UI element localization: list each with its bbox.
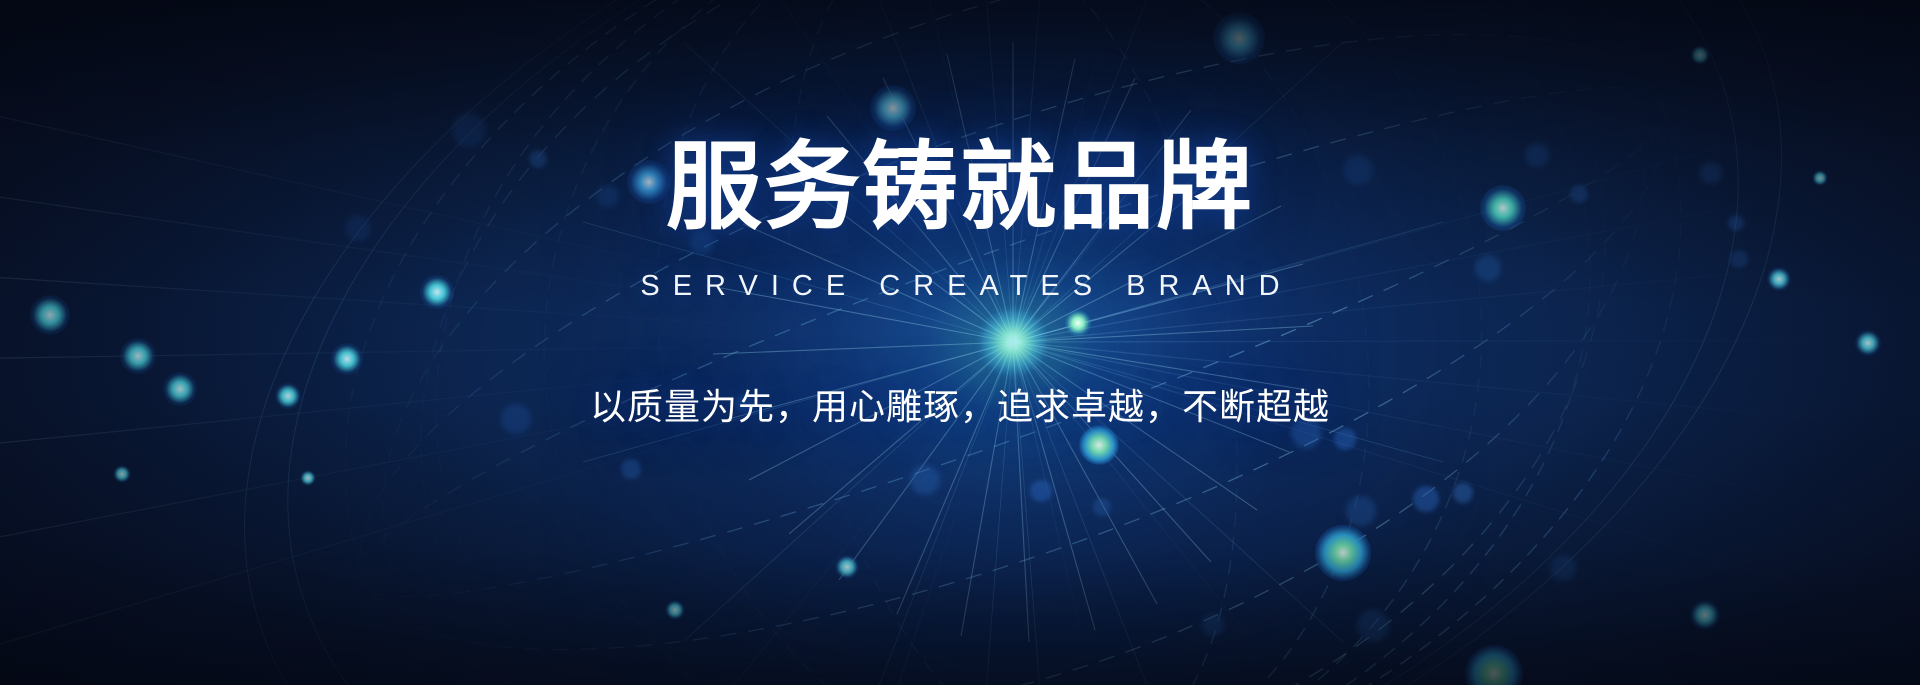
banner-text-block: 服务铸就品牌 SERVICE CREATES BRAND 以质量为先，用心雕琢，…: [0, 0, 1920, 685]
banner-subtitle: SERVICE CREATES BRAND: [0, 270, 1920, 303]
hero-banner: 服务铸就品牌 SERVICE CREATES BRAND 以质量为先，用心雕琢，…: [0, 0, 1920, 685]
banner-tagline: 以质量为先，用心雕琢，追求卓越，不断超越: [0, 378, 1920, 430]
banner-headline: 服务铸就品牌: [0, 138, 1920, 239]
